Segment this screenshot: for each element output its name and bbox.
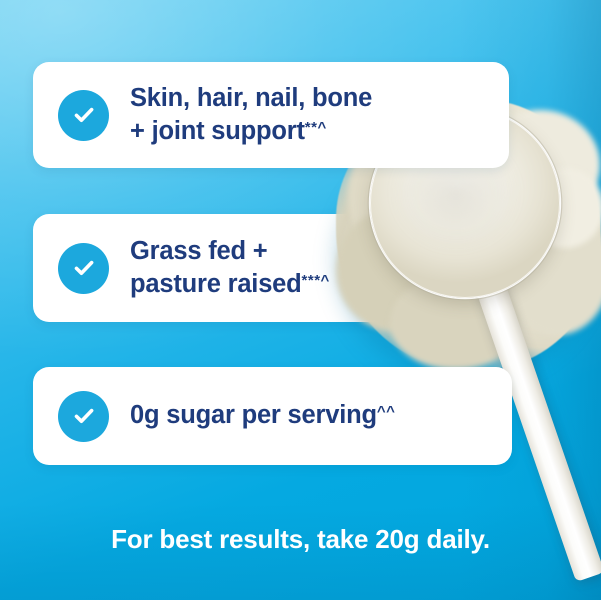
footer-directions: For best results, take 20g daily.	[0, 524, 601, 555]
benefit-superscript: ***^	[302, 272, 330, 289]
benefit-line-1: Grass fed +	[130, 235, 330, 268]
checkmark-icon	[58, 90, 109, 141]
promo-graphic: Grass fed + pasture raised***^	[0, 0, 601, 600]
benefit-line-2: + joint support**^	[130, 115, 372, 148]
benefit-line-1: 0g sugar per serving^^	[130, 399, 395, 432]
benefit-line-1-text: 0g sugar per serving	[130, 401, 377, 429]
benefit-card-skin-hair-nail: Skin, hair, nail, bone + joint support**…	[33, 62, 509, 168]
benefit-card-text: 0g sugar per serving^^	[130, 399, 395, 432]
checkmark-icon	[58, 243, 109, 294]
benefit-card-text: Grass fed + pasture raised***^	[130, 235, 330, 301]
benefit-line-2-text: + joint support	[130, 117, 305, 145]
benefit-card-text: Skin, hair, nail, bone + joint support**…	[130, 82, 372, 148]
benefit-superscript: **^	[305, 119, 327, 136]
benefit-line-1: Skin, hair, nail, bone	[130, 82, 372, 115]
benefit-card-zero-sugar: 0g sugar per serving^^	[33, 367, 512, 465]
benefit-line-2: pasture raised***^	[130, 268, 330, 301]
benefit-superscript: ^^	[377, 403, 396, 420]
checkmark-icon	[58, 391, 109, 442]
benefit-line-2-text: pasture raised	[130, 270, 302, 298]
